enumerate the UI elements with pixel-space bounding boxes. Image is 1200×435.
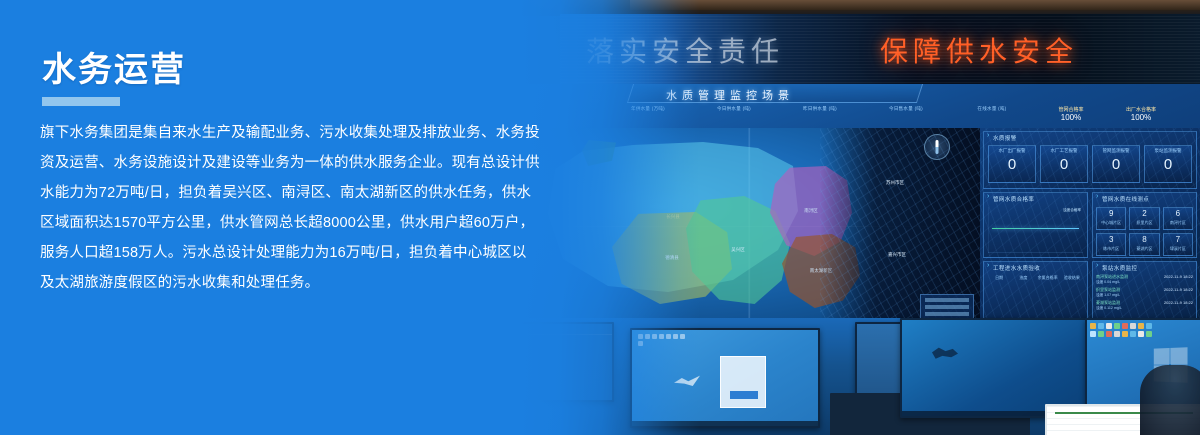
- monitoring-point-tile[interactable]: 3 练市片区: [1096, 233, 1126, 256]
- alarm-card-value: 0: [1093, 154, 1139, 176]
- monitoring-point-label: 南浔片区: [1164, 220, 1192, 226]
- desktop-icon[interactable]: [1098, 323, 1104, 329]
- desktop-icon[interactable]: [1130, 331, 1136, 337]
- qualification-rate-panel: 管网水质合格率 浊度合格率: [983, 192, 1088, 258]
- desk-monitor: [900, 318, 1105, 418]
- acceptance-column: 浊度: [1011, 275, 1035, 281]
- monitoring-point-label: 织里片区: [1130, 220, 1158, 226]
- alarm-card[interactable]: 水厂出厂报警 0: [988, 145, 1036, 183]
- kpi-percent-item: 管网合格率 100%: [1040, 106, 1102, 122]
- station-row[interactable]: 菱湖泵站监测 2022-11-9 18:22 浊度 0.112 mg/L: [1093, 299, 1196, 312]
- monitor-screen: [902, 320, 1103, 416]
- alarm-card-value: 0: [989, 154, 1035, 176]
- monitoring-point-tile[interactable]: 9 中心城片区: [1096, 207, 1126, 230]
- acceptance-column: 余氯合格率: [1036, 275, 1060, 281]
- alarm-card-value: 0: [1145, 154, 1191, 176]
- desktop-icon[interactable]: [1122, 323, 1128, 329]
- alarm-card[interactable]: 管网监测报警 0: [1092, 145, 1140, 183]
- desktop-icon[interactable]: [1090, 331, 1096, 337]
- alarm-card-row: 水厂出厂报警 0 水厂工艺报警 0 管网监测报警 0 泵站监测报警: [984, 143, 1196, 185]
- title-underline-bar: [42, 97, 120, 106]
- kpi-percent-label: 管网合格率: [1040, 106, 1102, 113]
- kpi-item: 在线水量 (吨): [954, 106, 1030, 128]
- led-banner-right-text: 保障供水安全: [880, 30, 1078, 70]
- kpi-percent-item: 出厂水合格率 100%: [1110, 106, 1172, 122]
- monitoring-point-tile[interactable]: 7 埭溪片区: [1163, 233, 1193, 256]
- desktop-icon-grid: [1090, 323, 1156, 337]
- rate-line-chart: [988, 207, 1083, 253]
- kpi-label: 今日售水量 (吨): [868, 106, 944, 112]
- desktop-icon[interactable]: [1138, 323, 1144, 329]
- kpi-label: 今日供水量 (吨): [696, 106, 772, 112]
- alarm-card[interactable]: 泵站监测报警 0: [1144, 145, 1192, 183]
- section-description: 旗下水务集团是集自来水生产及输配业务、污水收集处理及排放业务、水务投资及运营、水…: [40, 118, 540, 298]
- kpi-label: 昨日供水量 (吨): [782, 106, 858, 112]
- station-metric: 浊度 0.112 mg/L: [1096, 306, 1193, 311]
- acceptance-panel-title: 工程进水水质验收: [984, 262, 1087, 273]
- desktop-icon[interactable]: [1098, 331, 1104, 337]
- alarm-card-value: 0: [1041, 154, 1087, 176]
- station-metric: 浊度 0.04 mg/L: [1096, 280, 1193, 285]
- alarm-card-label: 泵站监测报警: [1145, 148, 1191, 154]
- hero-banner: 落实安全责任 保障供水安全 水质管理监控场景 年供水量 (万吨) 今日供水量 (…: [0, 0, 1200, 435]
- monitoring-point-label: 菱湖片区: [1130, 246, 1158, 252]
- legend-swatch: [925, 305, 969, 309]
- acceptance-table-header: 日期 浊度 余氯合格率 验收结果: [984, 273, 1087, 283]
- station-row[interactable]: 织里泵站监测 2022-11-9 18:22 浊度 1.07 mg/L: [1093, 286, 1196, 299]
- monitoring-point-value: 9: [1097, 208, 1125, 220]
- kpi-label: 在线水量 (吨): [954, 106, 1030, 112]
- desktop-icon[interactable]: [1114, 331, 1120, 337]
- compass-icon: [924, 134, 950, 160]
- kpi-percent-value: 100%: [1110, 113, 1172, 122]
- qualification-rate-title: 管网水质合格率: [984, 193, 1087, 204]
- legend-swatch: [925, 312, 969, 316]
- dialog-window[interactable]: [720, 356, 766, 408]
- text-content: 水务运营 旗下水务集团是集自来水生产及输配业务、污水收集处理及排放业务、水务投资…: [0, 0, 560, 435]
- station-monitor-panel: 泵站水质监控 南浔泵站进水监测 2022-11-9 18:22 浊度 0.04 …: [1092, 261, 1197, 321]
- desktop-icon[interactable]: [1130, 323, 1136, 329]
- monitoring-point-tile[interactable]: 8 菱湖片区: [1129, 233, 1159, 256]
- monitoring-point-tile[interactable]: 6 南浔片区: [1163, 207, 1193, 230]
- map-region-label: 南浔区: [804, 208, 818, 214]
- station-metric: 浊度 1.07 mg/L: [1096, 293, 1193, 298]
- monitoring-point-value: 3: [1097, 234, 1125, 246]
- ceiling-strip-secondary: [630, 0, 1200, 10]
- station-monitor-title: 泵站水质监控: [1093, 262, 1196, 273]
- alarm-card-label: 水厂出厂报警: [989, 148, 1035, 154]
- map-side-label: 嘉兴市区: [888, 252, 906, 258]
- monitoring-point-value: 2: [1130, 208, 1158, 220]
- monitoring-points-panel: 管网水质在线测点 9 中心城片区 2 织里片区 6 南浔片区: [1092, 192, 1197, 258]
- monitoring-point-value: 7: [1164, 234, 1192, 246]
- water-quality-dashboard: 水质报警 水厂出厂报警 0 水厂工艺报警 0 管网监测报警 0: [980, 128, 1200, 324]
- monitoring-point-tile[interactable]: 2 织里片区: [1129, 207, 1159, 230]
- monitoring-point-label: 中心城片区: [1097, 220, 1125, 226]
- operator-silhouette: [1140, 365, 1200, 435]
- kpi-item: 今日供水量 (吨): [696, 106, 772, 128]
- acceptance-column: 日期: [987, 275, 1011, 281]
- desktop-icon[interactable]: [1114, 323, 1120, 329]
- legend-swatch: [925, 298, 969, 302]
- desktop-icon[interactable]: [1122, 331, 1128, 337]
- monitoring-points-title: 管网水质在线测点: [1093, 193, 1196, 204]
- station-row[interactable]: 南浔泵站进水监测 2022-11-9 18:22 浊度 0.04 mg/L: [1093, 273, 1196, 286]
- monitoring-point-label: 埭溪片区: [1164, 246, 1192, 252]
- desktop-icon[interactable]: [1138, 331, 1144, 337]
- desktop-icon[interactable]: [1146, 323, 1152, 329]
- kpi-item: 今日售水量 (吨): [868, 106, 944, 128]
- alarm-card-label: 水厂工艺报警: [1041, 148, 1087, 154]
- alarm-panel-title: 水质报警: [984, 132, 1196, 143]
- monitoring-point-value: 6: [1164, 208, 1192, 220]
- kpi-percent-value: 100%: [1040, 113, 1102, 122]
- map-side-label: 苏州市区: [886, 180, 904, 186]
- map-legend: [920, 294, 974, 320]
- alarm-panel: 水质报警 水厂出厂报警 0 水厂工艺报警 0 管网监测报警 0: [983, 131, 1197, 189]
- monitoring-point-value: 8: [1130, 234, 1158, 246]
- desktop-icon[interactable]: [1106, 323, 1112, 329]
- acceptance-column: 验收结果: [1060, 275, 1084, 281]
- alarm-card-label: 管网监测报警: [1093, 148, 1139, 154]
- monitoring-points-grid: 9 中心城片区 2 织里片区 6 南浔片区 3: [1093, 204, 1196, 259]
- desktop-icon[interactable]: [1106, 331, 1112, 337]
- desktop-icon[interactable]: [1090, 323, 1096, 329]
- kpi-item: 昨日供水量 (吨): [782, 106, 858, 128]
- acceptance-panel: 工程进水水质验收 日期 浊度 余氯合格率 验收结果: [983, 261, 1088, 321]
- kpi-percent-label: 出厂水合格率: [1110, 106, 1172, 113]
- desktop-icon[interactable]: [1146, 331, 1152, 337]
- alarm-card[interactable]: 水厂工艺报警 0: [1040, 145, 1088, 183]
- monitoring-point-label: 练市片区: [1097, 246, 1125, 252]
- wallpaper-diver: [932, 346, 958, 362]
- map-region-label: 吴兴区: [731, 247, 745, 253]
- page-title: 水务运营: [42, 50, 186, 90]
